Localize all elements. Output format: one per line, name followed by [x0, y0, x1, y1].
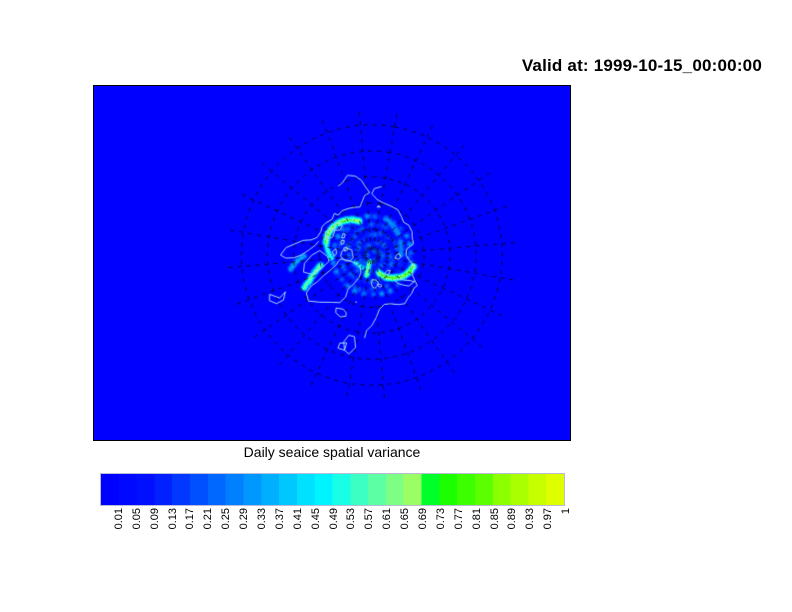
colorbar-tick-label: 0.17: [184, 508, 196, 529]
colorbar-tick-label: 0.25: [220, 508, 232, 529]
colorbar-tick-label: 1: [560, 508, 572, 514]
colorbar: [100, 473, 565, 506]
left-tick-mark: [93, 156, 94, 157]
colorbar-tick-label: 0.97: [542, 508, 554, 529]
seaice-variance-map: [94, 86, 570, 440]
left-tick-mark: [93, 236, 94, 237]
colorbar-tick-label: 0.21: [202, 508, 214, 529]
colorbar-tick-labels: 0.010.050.090.130.170.210.250.290.330.37…: [100, 508, 565, 568]
colorbar-tick-label: 0.73: [435, 508, 447, 529]
colorbar-tick-label: 0.49: [328, 508, 340, 529]
colorbar-tick-label: 0.77: [453, 508, 465, 529]
colorbar-tick-label: 0.13: [167, 508, 179, 529]
colorbar-tick-label: 0.45: [310, 508, 322, 529]
colorbar-tick-label: 0.29: [238, 508, 250, 529]
colorbar-gradient: [100, 473, 565, 506]
colorbar-tick-label: 0.89: [506, 508, 518, 529]
colorbar-tick-label: 0.61: [381, 508, 393, 529]
colorbar-tick-label: 0.85: [489, 508, 501, 529]
colorbar-tick-label: 0.33: [256, 508, 268, 529]
figure: Valid at: 1999-10-15_00:00:00 135°E150°E…: [0, 0, 792, 612]
colorbar-tick-label: 0.65: [399, 508, 411, 529]
colorbar-tick-label: 0.69: [417, 508, 429, 529]
colorbar-tick-label: 0.37: [274, 508, 286, 529]
colorbar-tick-label: 0.05: [131, 508, 143, 529]
left-tick-mark: [93, 311, 94, 312]
page-title: Valid at: 1999-10-15_00:00:00: [522, 56, 762, 76]
colorbar-tick-label: 0.41: [292, 508, 304, 529]
colorbar-tick-label: 0.93: [524, 508, 536, 529]
colorbar-tick-label: 0.09: [149, 508, 161, 529]
colorbar-tick-label: 0.53: [345, 508, 357, 529]
map-plot-area: 135°E150°E165°E180° 15°E0°15°W30°W45°W60…: [93, 85, 571, 441]
colorbar-caption: Daily seaice spatial variance: [93, 444, 571, 460]
colorbar-tick-label: 0.01: [113, 508, 125, 529]
left-tick-mark: [93, 386, 94, 387]
colorbar-tick-label: 0.57: [363, 508, 375, 529]
colorbar-tick-label: 0.81: [471, 508, 483, 529]
